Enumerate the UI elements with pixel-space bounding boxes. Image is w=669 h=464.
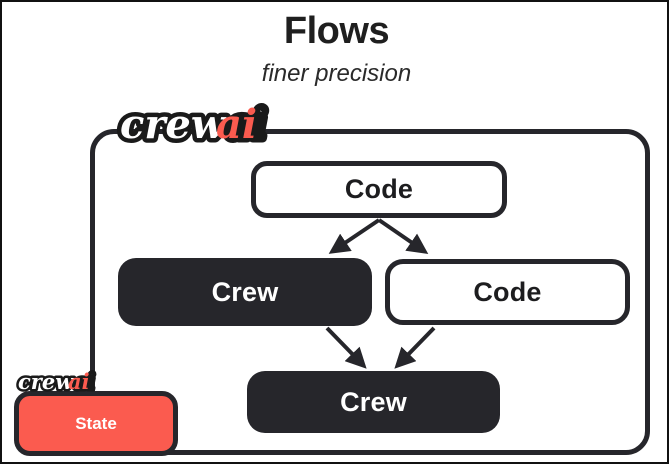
node-label: Code: [473, 277, 541, 308]
crewai-logo-ai: ai: [216, 101, 257, 148]
node-label: State: [75, 414, 117, 434]
crewai-logo-crew: crew: [120, 101, 227, 148]
node-code-top[interactable]: Code: [251, 161, 507, 218]
node-label: Crew: [212, 277, 279, 308]
crewai-logo-small-crew: crew: [18, 369, 74, 394]
node-code-middle[interactable]: Code: [385, 259, 630, 325]
crewai-logo-small-ai: ai: [68, 369, 90, 394]
page-title: Flows: [2, 10, 669, 53]
crewai-logo-small: crewai crew ai: [16, 368, 100, 396]
crewai-logo: crewai crew ai: [116, 98, 276, 150]
node-label: Code: [345, 174, 413, 205]
node-label: Crew: [340, 387, 407, 418]
page-subtitle: finer precision: [2, 60, 669, 88]
node-crew-middle[interactable]: Crew: [118, 258, 372, 326]
diagram-canvas: Flows finer precision Code Crew Code Cre…: [0, 0, 669, 464]
node-state[interactable]: State: [14, 391, 178, 456]
node-crew-bottom[interactable]: Crew: [247, 371, 500, 433]
